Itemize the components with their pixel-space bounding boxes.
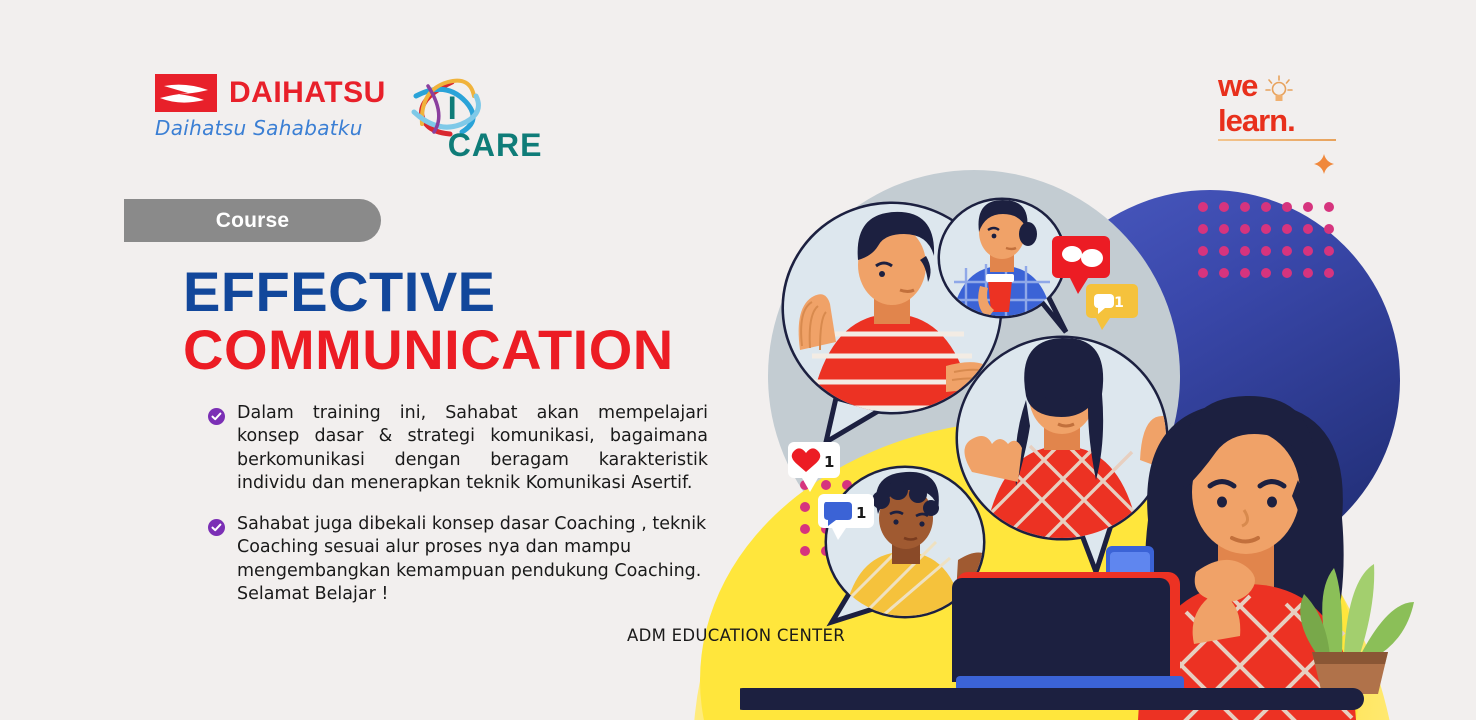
comment-reaction-badge-yellow: 1 [1086, 284, 1138, 330]
course-description-list: Dalam training ini, Sahabat akan mempela… [208, 402, 708, 624]
check-circle-icon [208, 408, 225, 425]
laptop [952, 572, 1184, 694]
people-communicating-illustration: 1 1 1 [740, 160, 1476, 720]
sparkle-icon [1314, 154, 1334, 174]
heart-reaction-badge: 1 [788, 442, 840, 492]
title-line-2: COMMUNICATION [183, 322, 674, 378]
daihatsu-logo: DAIHATSU Daihatsu Sahabatku [155, 74, 386, 140]
heart-count: 1 [824, 453, 834, 471]
bullet-text: Sahabat juga dibekali konsep dasar Coach… [237, 513, 708, 606]
desk-surface [740, 688, 1364, 710]
welearn-underline [1218, 139, 1336, 141]
daihatsu-wordmark: DAIHATSU [229, 76, 386, 110]
icare-wordmark: I CARE [448, 90, 548, 164]
footer-organization: ADM EDUCATION CENTER [627, 626, 845, 645]
icare-logo: I CARE [408, 76, 548, 138]
welearn-line1: we [1218, 72, 1257, 101]
welearn-logo: we learn. [1218, 72, 1348, 141]
title-line-1: EFFECTIVE [183, 264, 674, 320]
list-item: Sahabat juga dibekali konsep dasar Coach… [208, 513, 708, 606]
yellow-comment-count: 1 [1114, 295, 1124, 311]
bullet-text: Dalam training ini, Sahabat akan mempela… [237, 402, 708, 495]
lightbulb-icon [1263, 74, 1295, 106]
check-circle-icon [208, 519, 225, 536]
list-item: Dalam training ini, Sahabat akan mempela… [208, 402, 708, 495]
page-title: EFFECTIVE COMMUNICATION [183, 264, 674, 378]
course-banner: 1 1 1 [0, 0, 1476, 720]
course-badge: Course [124, 199, 381, 242]
comment-count: 1 [856, 504, 866, 522]
daihatsu-tagline: Daihatsu Sahabatku [155, 116, 363, 140]
course-badge-label: Course [216, 209, 290, 233]
header-logos: DAIHATSU Daihatsu Sahabatku I CARE [155, 74, 548, 140]
welearn-line2: learn. [1218, 106, 1348, 135]
daihatsu-d-mark-icon [155, 74, 217, 112]
